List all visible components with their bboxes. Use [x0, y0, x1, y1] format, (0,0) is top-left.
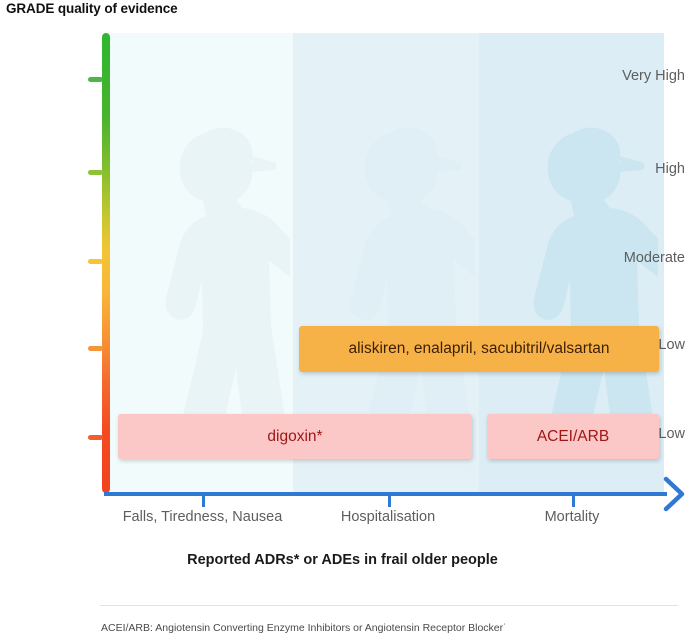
footnote-text: ACEI/ARB: Angiotensin Converting Enzyme … [101, 622, 507, 634]
y-tick-moderate [88, 259, 103, 264]
y-label-high: High [599, 161, 685, 177]
x-tick-falls [202, 496, 205, 507]
x-label-falls: Falls, Tiredness, Nausea [110, 509, 295, 525]
y-tick-low [88, 346, 103, 351]
grade-quality-gradient-bar [102, 33, 110, 493]
y-tick-very-high [88, 77, 103, 82]
y-label-moderate: Moderate [599, 250, 685, 266]
y-label-very-high: Very High [599, 68, 685, 84]
drug-label-digoxin: digoxin* [118, 414, 472, 459]
x-label-mortality: Mortality [479, 509, 665, 525]
drug-label-aliskiren-enalapril-sacubitril-valsartan: aliskiren, enalapril, sacubitril/valsart… [299, 326, 659, 372]
x-axis-caption: Reported ADRs* or ADEs in frail older pe… [0, 552, 685, 568]
footnote-divider [100, 605, 678, 606]
x-tick-hospitalisation [388, 496, 391, 507]
drug-label-acei-arb: ACEI/ARB [487, 414, 659, 459]
x-tick-mortality [572, 496, 575, 507]
y-tick-high [88, 170, 103, 175]
x-axis-line [104, 492, 667, 496]
y-tick-very-low [88, 435, 103, 440]
page-title: GRADE quality of evidence [6, 1, 178, 16]
right-arrow-icon [662, 476, 685, 512]
x-label-hospitalisation: Hospitalisation [295, 509, 481, 525]
